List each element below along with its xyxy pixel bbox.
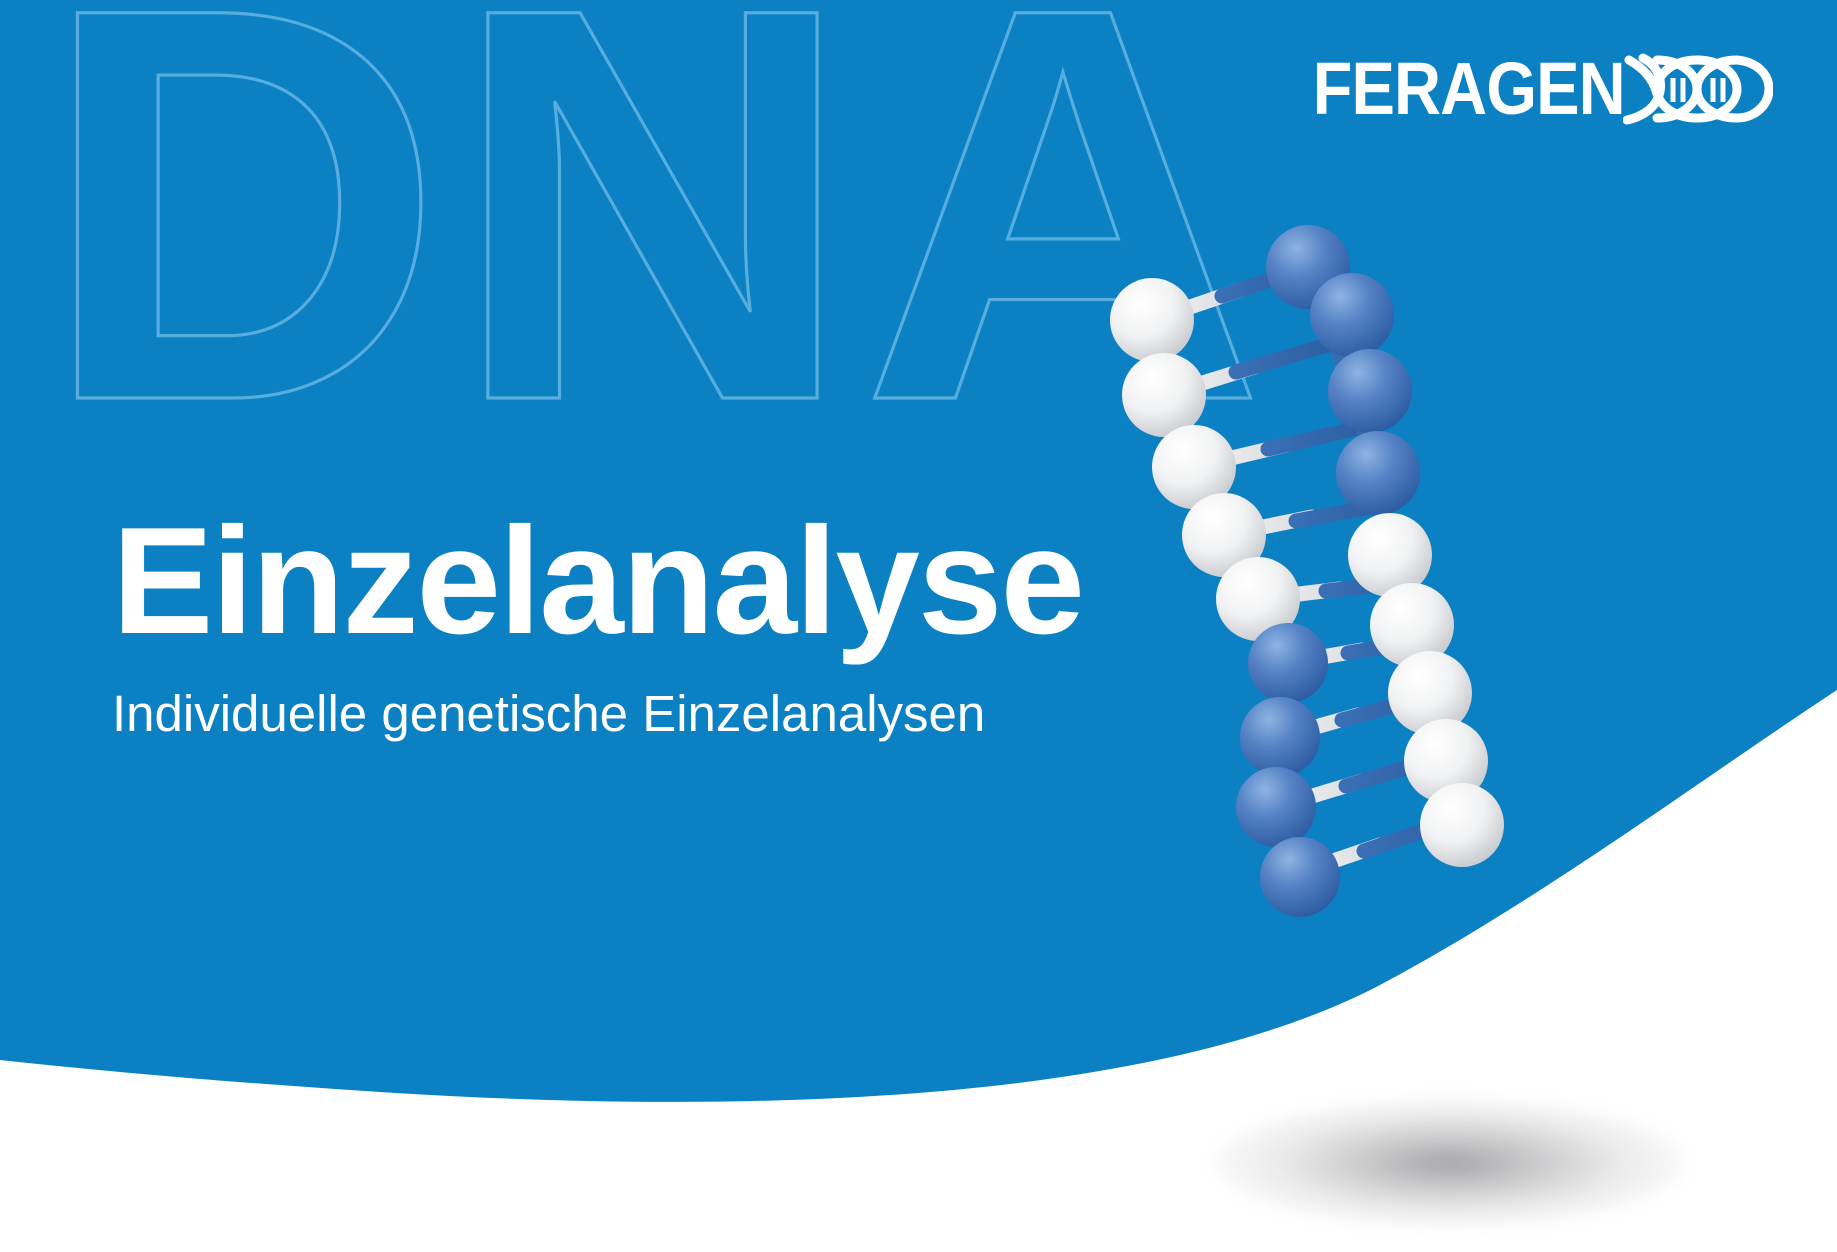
- headline-block: Einzelanalyse Individuelle genetische Ei…: [112, 505, 1172, 744]
- feragen-logo[interactable]: FERAGEN: [1270, 50, 1773, 128]
- page-subtitle: Individuelle genetische Einzelanalysen: [112, 685, 1172, 744]
- page-title: Einzelanalyse: [112, 505, 1172, 657]
- logo-wordmark: FERAGEN: [1313, 52, 1625, 126]
- dna-analysis-banner: DNA FERAGEN: [0, 0, 1837, 1252]
- dna-helix-icon: [1623, 50, 1773, 128]
- dna-drop-shadow: [1215, 1098, 1685, 1228]
